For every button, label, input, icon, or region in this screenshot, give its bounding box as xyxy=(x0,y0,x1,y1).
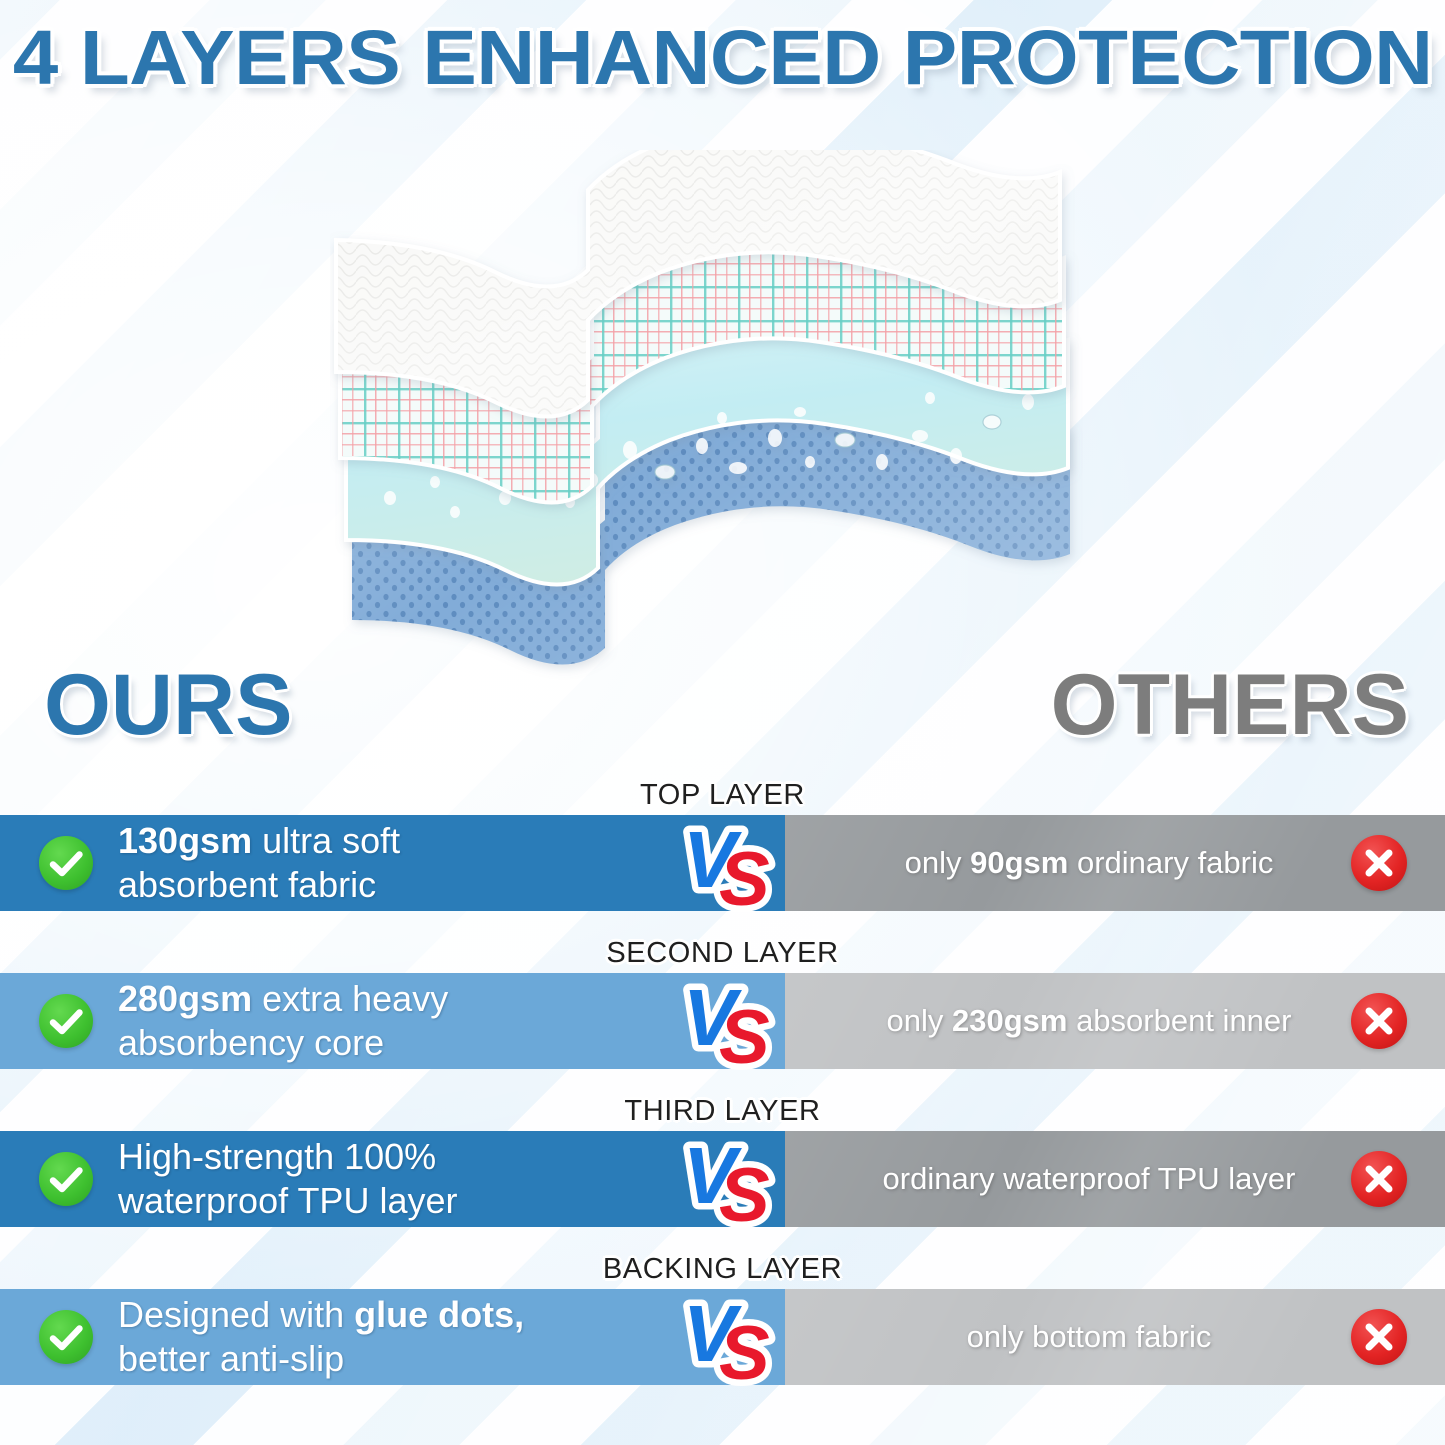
row-others-cell: only bottom fabric xyxy=(785,1289,1445,1385)
row-ours-cell: 130gsm ultra soft absorbent fabric xyxy=(0,815,785,911)
x-icon xyxy=(1351,1151,1407,1207)
comparison-table: TOP LAYER 130gsm ultra soft absorbent fa… xyxy=(0,775,1445,1445)
others-post: ordinary fabric xyxy=(1068,845,1273,880)
row-ours-cell: Designed with glue dots, better anti-sli… xyxy=(0,1289,785,1385)
ours-bold: 130gsm xyxy=(118,820,252,861)
ours-rest: ultra soft xyxy=(252,820,400,861)
row-ours-text: 130gsm ultra soft absorbent fabric xyxy=(118,819,400,907)
others-bold: 90gsm xyxy=(970,845,1068,880)
others-pre: only xyxy=(905,845,970,880)
x-icon xyxy=(1351,993,1407,1049)
table-row: 280gsm extra heavy absorbency core only … xyxy=(0,973,1445,1069)
layer-illustration xyxy=(330,150,1100,690)
layer-label-backing: BACKING LAYER xyxy=(0,1249,1445,1289)
x-icon xyxy=(1351,835,1407,891)
heading-ours: OURS xyxy=(44,662,292,748)
others-bold: 230gsm xyxy=(952,1003,1067,1038)
row-others-text: ordinary waterproof TPU layer xyxy=(785,1160,1351,1197)
row-gap xyxy=(0,1069,1445,1091)
ours-bold2: glue dots, xyxy=(354,1294,524,1335)
row-others-text: only bottom fabric xyxy=(785,1318,1351,1355)
check-icon xyxy=(39,994,93,1048)
row-ours-cell: High-strength 100% waterproof TPU layer xyxy=(0,1131,785,1227)
others-post: only bottom fabric xyxy=(967,1319,1212,1354)
row-others-cell: only 90gsm ordinary fabric xyxy=(785,815,1445,911)
table-row: 130gsm ultra soft absorbent fabric only … xyxy=(0,815,1445,911)
ours-rest: Designed with xyxy=(118,1294,354,1335)
infographic-canvas: 4 LAYERS ENHANCED PROTECTION xyxy=(0,0,1445,1445)
row-ours-text: 280gsm extra heavy absorbency core xyxy=(118,977,448,1065)
ours-line2: waterproof TPU layer xyxy=(118,1180,457,1221)
ours-rest: extra heavy xyxy=(252,978,448,1019)
check-icon xyxy=(39,1152,93,1206)
ours-bold: High-strength 100% xyxy=(118,1136,436,1177)
page-title: 4 LAYERS ENHANCED PROTECTION xyxy=(13,14,1433,103)
layer-label-third: THIRD LAYER xyxy=(0,1091,1445,1131)
row-others-text: only 90gsm ordinary fabric xyxy=(785,844,1351,881)
others-pre: only xyxy=(887,1003,952,1038)
page-title-container: 4 LAYERS ENHANCED PROTECTION xyxy=(0,14,1445,103)
others-post: ordinary waterproof TPU layer xyxy=(883,1161,1296,1196)
row-gap xyxy=(0,911,1445,933)
check-icon xyxy=(39,1310,93,1364)
row-ours-text: High-strength 100% waterproof TPU layer xyxy=(118,1135,457,1223)
heading-others: OTHERS xyxy=(1051,662,1409,748)
ours-line2: absorbent fabric xyxy=(118,864,376,905)
row-others-cell: only 230gsm absorbent inner xyxy=(785,973,1445,1069)
row-ours-cell: 280gsm extra heavy absorbency core xyxy=(0,973,785,1069)
check-icon xyxy=(39,836,93,890)
table-row: High-strength 100% waterproof TPU layer … xyxy=(0,1131,1445,1227)
row-others-cell: ordinary waterproof TPU layer xyxy=(785,1131,1445,1227)
ours-bold: 280gsm xyxy=(118,978,252,1019)
table-row: Designed with glue dots, better anti-sli… xyxy=(0,1289,1445,1385)
x-icon xyxy=(1351,1309,1407,1365)
ours-line2: absorbency core xyxy=(118,1022,384,1063)
layer-label-second: SECOND LAYER xyxy=(0,933,1445,973)
layer-label-top: TOP LAYER xyxy=(0,775,1445,815)
ours-line2: better anti-slip xyxy=(118,1338,344,1379)
row-ours-text: Designed with glue dots, better anti-sli… xyxy=(118,1293,524,1381)
row-others-text: only 230gsm absorbent inner xyxy=(785,1002,1351,1039)
row-gap xyxy=(0,1227,1445,1249)
others-post: absorbent inner xyxy=(1067,1003,1291,1038)
